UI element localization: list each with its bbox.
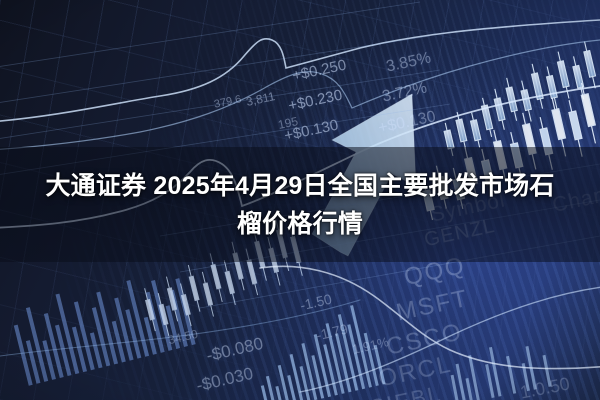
title-line-1: 大通证券 2025年4月29日全国主要批发市场石 [45,170,554,202]
title-line-2: 榴价格行情 [237,208,363,240]
stock-market-banner-image: +$0.250 3.85% +$0.230 3.72% +$0.130 +$0.… [0,0,600,400]
title-block: 大通证券 2025年4月29日全国主要批发市场石 榴价格行情 [0,150,600,260]
